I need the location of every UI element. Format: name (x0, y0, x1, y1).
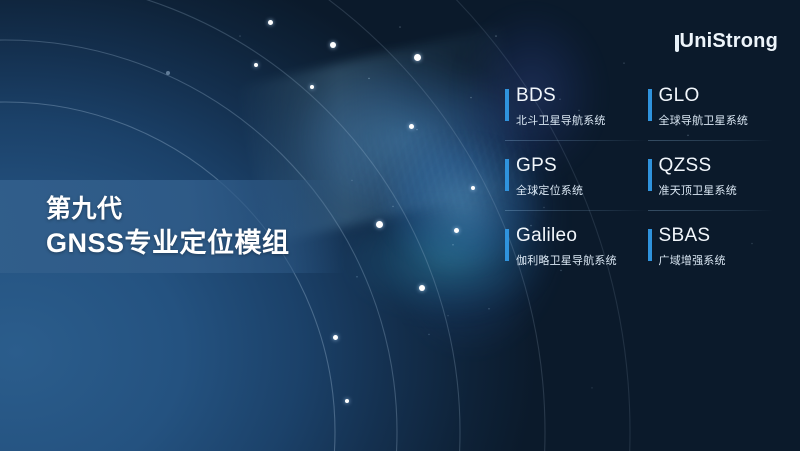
satellite-dot (254, 63, 258, 67)
satellite-dot (268, 20, 273, 25)
gnss-system-list: BDS 北斗卫星导航系统 GLO 全球导航卫星系统 GPS 全球定位系统 QZS… (505, 86, 773, 296)
brand-logo: UniStrong (675, 30, 778, 53)
gnss-name: Galileo (516, 226, 631, 246)
satellite-dot (454, 228, 459, 233)
gnss-name: GLO (659, 86, 774, 106)
gnss-name: BDS (516, 86, 631, 106)
title-line-1: 第九代 (46, 193, 376, 226)
gnss-description: 全球导航卫星系统 (659, 112, 774, 128)
satellite-dot-dim (166, 71, 170, 75)
gnss-name: SBAS (659, 226, 774, 246)
gnss-description: 伽利略卫星导航系统 (516, 252, 631, 268)
logo-bar-icon (675, 35, 679, 52)
satellite-dot (414, 54, 421, 61)
gnss-description: 广域增强系统 (659, 252, 774, 268)
satellite-dot (409, 124, 414, 129)
satellite-dot (330, 42, 336, 48)
gnss-name: QZSS (659, 156, 774, 176)
gnss-description: 全球定位系统 (516, 182, 631, 198)
gnss-description: 准天顶卫星系统 (659, 182, 774, 198)
gnss-item-gps: GPS 全球定位系统 (505, 156, 631, 211)
satellite-dot (310, 85, 314, 89)
satellite-dot (419, 285, 425, 291)
gnss-item-galileo: Galileo 伽利略卫星导航系统 (505, 226, 631, 281)
gnss-item-qzss: QZSS 准天顶卫星系统 (648, 156, 774, 211)
gnss-item-glo: GLO 全球导航卫星系统 (648, 86, 774, 141)
gnss-name: GPS (516, 156, 631, 176)
satellite-dot (376, 221, 383, 228)
page-title: 第九代 GNSS专业定位模组 (46, 193, 376, 261)
title-line-2: GNSS专业定位模组 (46, 226, 376, 261)
brand-logo-text: UniStrong (680, 30, 778, 53)
gnss-item-sbas: SBAS 广域增强系统 (648, 226, 774, 281)
orbit-arc-1 (0, 102, 335, 451)
gnss-description: 北斗卫星导航系统 (516, 112, 631, 128)
gnss-item-bds: BDS 北斗卫星导航系统 (505, 86, 631, 141)
satellite-dot (471, 186, 475, 190)
slide-canvas: 第九代 GNSS专业定位模组 UniStrong BDS 北斗卫星导航系统 GL… (0, 0, 800, 451)
satellite-dot (345, 399, 349, 403)
satellite-dot (333, 335, 338, 340)
